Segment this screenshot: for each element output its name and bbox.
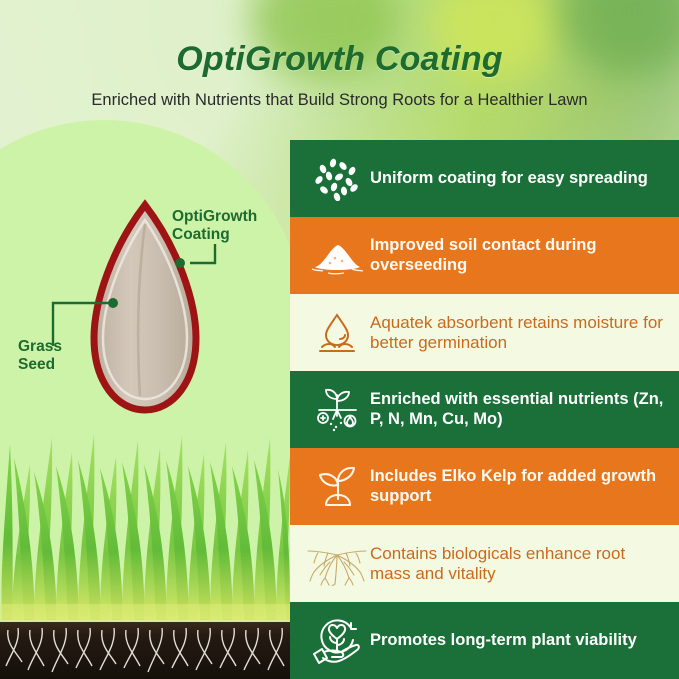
- seed-callout-dot: [108, 298, 118, 308]
- header: OptiGrowth Coating Enriched with Nutrien…: [0, 40, 679, 110]
- feature-row-elko-kelp[interactable]: Includes Elko Kelp for added growth supp…: [290, 448, 679, 525]
- coating-callout-dot: [175, 258, 185, 268]
- feature-text: Aquatek absorbent retains moisture for b…: [370, 313, 679, 352]
- feature-text: Promotes long-term plant viability: [370, 631, 647, 650]
- page-title: OptiGrowth Coating: [0, 40, 679, 79]
- callout-label-seed: Grass Seed: [18, 338, 62, 373]
- grass-photo: [0, 408, 290, 679]
- callout-coating-line2: Coating: [172, 226, 230, 243]
- seed-diagram: OptiGrowth Coating Grass Seed: [0, 120, 290, 420]
- feature-text: Contains biologicals enhance root mass a…: [370, 544, 679, 583]
- scattered-seeds-icon: [304, 150, 370, 208]
- feature-row-long-term-viability[interactable]: Promotes long-term plant viability: [290, 602, 679, 679]
- feature-row-uniform-coating[interactable]: Uniform coating for easy spreading: [290, 140, 679, 217]
- soil-mound-icon: [304, 227, 370, 285]
- feature-row-biologicals[interactable]: Contains biologicals enhance root mass a…: [290, 525, 679, 602]
- seed-diagram-svg: [0, 120, 290, 420]
- root-system-icon: [304, 535, 370, 593]
- callout-coating-line1: OptiGrowth: [172, 208, 257, 225]
- page-subtitle: Enriched with Nutrients that Build Stron…: [0, 91, 679, 110]
- infographic-poster: OptiGrowth Coating Enriched with Nutrien…: [0, 0, 679, 679]
- callout-seed-line1: Grass: [18, 338, 62, 355]
- feature-text: Improved soil contact during overseeding: [370, 236, 679, 274]
- feature-row-essential-nutrients[interactable]: Enriched with essential nutrients (Zn, P…: [290, 371, 679, 448]
- callout-seed-line2: Seed: [18, 356, 55, 373]
- callout-label-coating: OptiGrowth Coating: [172, 208, 257, 243]
- feature-text: Enriched with essential nutrients (Zn, P…: [370, 390, 679, 428]
- coating-callout-line: [190, 244, 215, 263]
- feature-list: Uniform coating for easy spreading: [290, 140, 679, 679]
- grass-photo-svg: [0, 408, 290, 679]
- sprout-nutrients-icon: [304, 381, 370, 439]
- water-drop-icon: [304, 304, 370, 362]
- seedling-leaves-icon: [304, 458, 370, 516]
- hand-heart-plant-icon: [304, 612, 370, 670]
- feature-row-soil-contact[interactable]: Improved soil contact during overseeding: [290, 217, 679, 294]
- feature-text: Includes Elko Kelp for added growth supp…: [370, 467, 679, 505]
- feature-text: Uniform coating for easy spreading: [370, 169, 658, 188]
- feature-row-aquatek-absorbent[interactable]: Aquatek absorbent retains moisture for b…: [290, 294, 679, 371]
